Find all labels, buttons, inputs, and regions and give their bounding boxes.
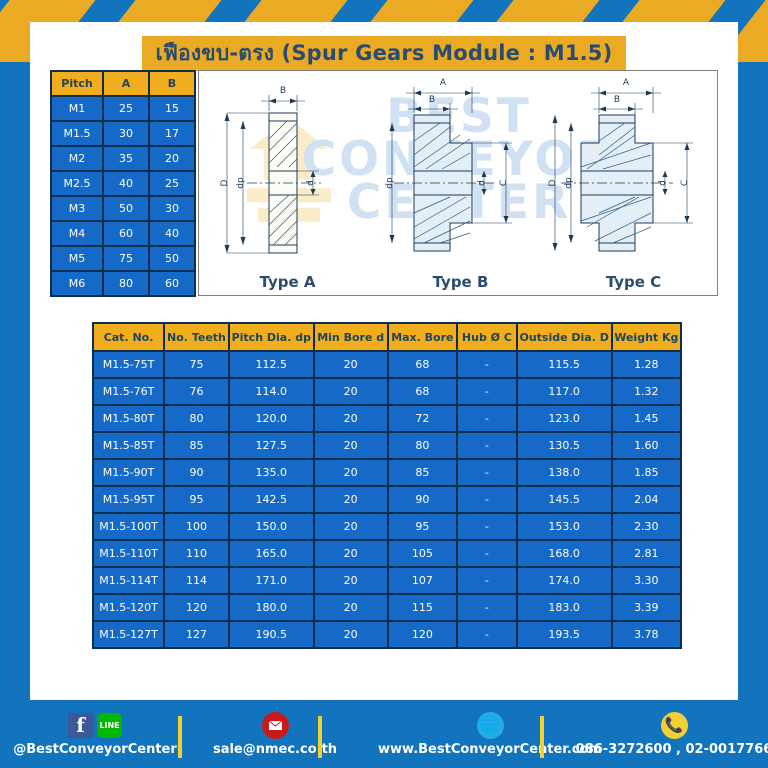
spec-header-0: Cat. No. [94, 324, 163, 350]
spec-cell-3: 20 [315, 487, 387, 512]
pitch-header-a: A [104, 72, 148, 95]
spec-cell-6: 153.0 [518, 514, 611, 539]
spec-cell-2: 150.0 [230, 514, 313, 539]
spec-cell-3: 20 [315, 622, 387, 647]
spec-cell-7: 2.81 [613, 541, 680, 566]
spec-cell-3: 20 [315, 514, 387, 539]
spec-cell-2: 142.5 [230, 487, 313, 512]
cell-a: 35 [104, 147, 148, 170]
spec-cell-3: 20 [315, 352, 387, 377]
spec-cell-1: 90 [165, 460, 228, 485]
spec-cell-5: - [458, 541, 516, 566]
envelope-glyph-icon [268, 720, 283, 731]
cell-b: 40 [150, 222, 194, 245]
spec-header-7: Weight Kg [613, 324, 680, 350]
table-row: M1.5-127T127190.520120-193.53.78 [94, 622, 680, 647]
spec-cell-1: 75 [165, 352, 228, 377]
page-title: เฟืองขบ-ตรง (Spur Gears Module : M1.5) [142, 36, 627, 71]
phone-icon[interactable]: 📞 [661, 712, 688, 739]
spec-cell-0: M1.5-120T [94, 595, 163, 620]
gear-diagram-type-b: A B dp d C Type B [374, 71, 547, 296]
spec-table-header-row: Cat. No.No. TeethPitch Dia. dpMin Bore d… [94, 324, 680, 350]
spec-cell-7: 3.78 [613, 622, 680, 647]
spec-cell-0: M1.5-110T [94, 541, 163, 566]
table-row: M1.5-75T75112.52068-115.51.28 [94, 352, 680, 377]
facebook-icon[interactable]: f [68, 713, 93, 738]
spec-cell-7: 1.32 [613, 379, 680, 404]
spec-cell-5: - [458, 352, 516, 377]
footer-phone-text: 086-3272600 , 02-0017766 [576, 742, 768, 757]
dim-label-c: C [499, 180, 509, 186]
spec-cell-4: 105 [389, 541, 457, 566]
spec-cell-3: 20 [315, 568, 387, 593]
spec-cell-5: - [458, 487, 516, 512]
type-b-label: Type B [374, 273, 547, 291]
dim-label-b: B [429, 95, 435, 105]
spec-cell-7: 1.28 [613, 352, 680, 377]
dim-label-dp: dp [236, 177, 246, 189]
spec-cell-6: 117.0 [518, 379, 611, 404]
cell-b: 25 [150, 172, 194, 195]
pitch-header-pitch: Pitch [52, 72, 102, 95]
gear-diagram-type-a: B D dp d Type A [201, 71, 374, 296]
spec-cell-4: 72 [389, 406, 457, 431]
pitch-reference-table: Pitch A B M1 25 15 M1.5 30 17 [50, 70, 196, 297]
spec-cell-4: 115 [389, 595, 457, 620]
spec-cell-4: 68 [389, 379, 457, 404]
cell-b: 15 [150, 97, 194, 120]
spec-cell-1: 127 [165, 622, 228, 647]
cell-b: 60 [150, 272, 194, 295]
spec-cell-4: 120 [389, 622, 457, 647]
table-row: M1.5-85T85127.52080-130.51.60 [94, 433, 680, 458]
spec-cell-5: - [458, 433, 516, 458]
spec-cell-5: - [458, 460, 516, 485]
dim-label-dp: dp [385, 177, 395, 189]
spec-cell-5: - [458, 514, 516, 539]
cell-pitch: M5 [52, 247, 102, 270]
content-card: เฟืองขบ-ตรง (Spur Gears Module : M1.5) P… [30, 22, 738, 700]
footer-website-icons: 🌐 [477, 711, 504, 739]
spec-cell-0: M1.5-85T [94, 433, 163, 458]
spec-cell-2: 120.0 [230, 406, 313, 431]
spec-cell-2: 171.0 [230, 568, 313, 593]
spec-cell-1: 100 [165, 514, 228, 539]
spec-cell-2: 190.5 [230, 622, 313, 647]
spec-cell-4: 95 [389, 514, 457, 539]
table-row: M6 80 60 [52, 272, 194, 295]
dim-label-dp: dp [564, 177, 574, 189]
spec-cell-3: 20 [315, 541, 387, 566]
globe-icon[interactable]: 🌐 [477, 712, 504, 739]
spec-cell-6: 138.0 [518, 460, 611, 485]
spec-cell-1: 85 [165, 433, 228, 458]
spec-cell-2: 114.0 [230, 379, 313, 404]
spec-cell-6: 130.5 [518, 433, 611, 458]
spec-cell-7: 1.85 [613, 460, 680, 485]
spec-cell-3: 20 [315, 460, 387, 485]
spec-cell-5: - [458, 568, 516, 593]
spec-cell-0: M1.5-100T [94, 514, 163, 539]
cell-b: 50 [150, 247, 194, 270]
spec-cell-3: 20 [315, 595, 387, 620]
dim-label-d-bore: d [477, 180, 487, 186]
footer-separator [540, 716, 544, 758]
dim-label-d-outer: D [548, 179, 558, 186]
dim-label-d-bore: d [306, 180, 316, 186]
spec-cell-0: M1.5-75T [94, 352, 163, 377]
spec-cell-7: 3.39 [613, 595, 680, 620]
footer-phone[interactable]: 📞 086-3272600 , 02-0017766 [580, 700, 768, 768]
table-row: M1.5-100T100150.02095-153.02.30 [94, 514, 680, 539]
cell-a: 60 [104, 222, 148, 245]
spec-cell-6: 183.0 [518, 595, 611, 620]
spec-header-2: Pitch Dia. dp [230, 324, 313, 350]
type-b-drawing-icon: A B dp d C [374, 73, 547, 273]
dim-label-c: C [680, 180, 690, 186]
spec-cell-0: M1.5-95T [94, 487, 163, 512]
table-row: M3 50 30 [52, 197, 194, 220]
spec-cell-7: 2.30 [613, 514, 680, 539]
type-c-label: Type C [547, 273, 718, 291]
spec-cell-1: 114 [165, 568, 228, 593]
spec-cell-4: 85 [389, 460, 457, 485]
spec-cell-6: 174.0 [518, 568, 611, 593]
table-row: M1 25 15 [52, 97, 194, 120]
type-a-label: Type A [201, 273, 374, 291]
dim-label-a: A [440, 78, 447, 88]
table-row: M1.5-90T90135.02085-138.01.85 [94, 460, 680, 485]
cell-pitch: M6 [52, 272, 102, 295]
spec-header-6: Outside Dia. D [518, 324, 611, 350]
spec-cell-3: 20 [315, 406, 387, 431]
cell-b: 30 [150, 197, 194, 220]
pitch-table-header-row: Pitch A B [52, 72, 194, 95]
type-a-drawing-icon: B D dp d [201, 73, 374, 273]
footer-email-icons [262, 711, 289, 739]
cell-b: 17 [150, 122, 194, 145]
dim-label-a: A [623, 78, 630, 88]
spec-cell-6: 145.5 [518, 487, 611, 512]
table-row: M1.5-80T80120.02072-123.01.45 [94, 406, 680, 431]
footer-contact-bar: f LINE @BestConveyorCenter sale@nmec.co.… [0, 700, 768, 768]
spec-header-1: No. Teeth [165, 324, 228, 350]
spec-cell-4: 107 [389, 568, 457, 593]
cell-b: 20 [150, 147, 194, 170]
spec-cell-4: 80 [389, 433, 457, 458]
spec-cell-1: 120 [165, 595, 228, 620]
cell-a: 40 [104, 172, 148, 195]
footer-website-text: www.BestConveyorCenter.com [378, 742, 602, 757]
email-icon[interactable] [262, 712, 289, 739]
spec-cell-6: 123.0 [518, 406, 611, 431]
table-row: M2 35 20 [52, 147, 194, 170]
spec-cell-6: 193.5 [518, 622, 611, 647]
spec-cell-0: M1.5-114T [94, 568, 163, 593]
table-row: M1.5-95T95142.52090-145.52.04 [94, 487, 680, 512]
table-row: M1.5-120T120180.020115-183.03.39 [94, 595, 680, 620]
spec-cell-0: M1.5-76T [94, 379, 163, 404]
table-row: M1.5-114T114171.020107-174.03.30 [94, 568, 680, 593]
spec-cell-3: 20 [315, 379, 387, 404]
spec-header-3: Min Bore d [315, 324, 387, 350]
table-row: M2.5 40 25 [52, 172, 194, 195]
cell-a: 80 [104, 272, 148, 295]
spec-table-body: M1.5-75T75112.52068-115.51.28M1.5-76T761… [94, 352, 680, 647]
table-row: M5 75 50 [52, 247, 194, 270]
table-row: M4 60 40 [52, 222, 194, 245]
spec-cell-1: 80 [165, 406, 228, 431]
line-icon[interactable]: LINE [97, 713, 122, 738]
page-title-container: เฟืองขบ-ตรง (Spur Gears Module : M1.5) [30, 36, 738, 71]
dim-label-d-outer: D [220, 179, 230, 186]
footer-social[interactable]: f LINE @BestConveyorCenter [0, 700, 190, 768]
spec-cell-7: 1.45 [613, 406, 680, 431]
spec-cell-1: 110 [165, 541, 228, 566]
footer-social-text: @BestConveyorCenter [13, 742, 177, 757]
table-row: M1.5-76T76114.02068-117.01.32 [94, 379, 680, 404]
table-row: M1.5-110T110165.020105-168.02.81 [94, 541, 680, 566]
spec-cell-7: 1.60 [613, 433, 680, 458]
spec-cell-2: 112.5 [230, 352, 313, 377]
spec-sheet-page: เฟืองขบ-ตรง (Spur Gears Module : M1.5) P… [0, 0, 768, 768]
spec-cell-4: 90 [389, 487, 457, 512]
cell-a: 75 [104, 247, 148, 270]
spec-cell-0: M1.5-90T [94, 460, 163, 485]
table-row: M1.5 30 17 [52, 122, 194, 145]
gear-diagram-type-c: A B D dp d C Type C [547, 71, 718, 296]
spec-cell-7: 3.30 [613, 568, 680, 593]
spec-cell-6: 168.0 [518, 541, 611, 566]
footer-phone-icons: 📞 [661, 711, 688, 739]
spec-cell-7: 2.04 [613, 487, 680, 512]
spec-cell-0: M1.5-127T [94, 622, 163, 647]
spec-cell-2: 180.0 [230, 595, 313, 620]
footer-email[interactable]: sale@nmec.co.th [190, 700, 360, 768]
cell-pitch: M1.5 [52, 122, 102, 145]
specification-table: Cat. No.No. TeethPitch Dia. dpMin Bore d… [92, 322, 682, 649]
footer-social-icons: f LINE [68, 711, 122, 739]
spec-cell-5: - [458, 622, 516, 647]
spec-cell-3: 20 [315, 433, 387, 458]
spec-header-5: Hub Ø C [458, 324, 516, 350]
cell-pitch: M4 [52, 222, 102, 245]
spec-cell-2: 127.5 [230, 433, 313, 458]
cell-pitch: M2.5 [52, 172, 102, 195]
specification-table-container: Cat. No.No. TeethPitch Dia. dpMin Bore d… [92, 322, 682, 649]
spec-cell-2: 165.0 [230, 541, 313, 566]
cell-pitch: M3 [52, 197, 102, 220]
spec-cell-5: - [458, 406, 516, 431]
footer-separator [178, 716, 182, 758]
spec-cell-5: - [458, 595, 516, 620]
spec-cell-1: 95 [165, 487, 228, 512]
gear-diagram-panel: BEST CONVEYOR CENTER [198, 70, 718, 296]
spec-cell-5: - [458, 379, 516, 404]
spec-header-4: Max. Bore [389, 324, 457, 350]
upper-section: Pitch A B M1 25 15 M1.5 30 17 [50, 70, 718, 296]
cell-pitch: M2 [52, 147, 102, 170]
dim-label-d-bore: d [658, 180, 668, 186]
pitch-header-b: B [150, 72, 194, 95]
dim-label-b: B [280, 86, 286, 96]
spec-cell-6: 115.5 [518, 352, 611, 377]
spec-cell-0: M1.5-80T [94, 406, 163, 431]
spec-cell-1: 76 [165, 379, 228, 404]
dim-label-b: B [614, 95, 620, 105]
pitch-table-body: M1 25 15 M1.5 30 17 M2 35 20 [52, 97, 194, 295]
cell-pitch: M1 [52, 97, 102, 120]
spec-cell-2: 135.0 [230, 460, 313, 485]
cell-a: 50 [104, 197, 148, 220]
type-c-drawing-icon: A B D dp d C [547, 73, 718, 273]
footer-separator [318, 716, 322, 758]
cell-a: 30 [104, 122, 148, 145]
cell-a: 25 [104, 97, 148, 120]
spec-cell-4: 68 [389, 352, 457, 377]
